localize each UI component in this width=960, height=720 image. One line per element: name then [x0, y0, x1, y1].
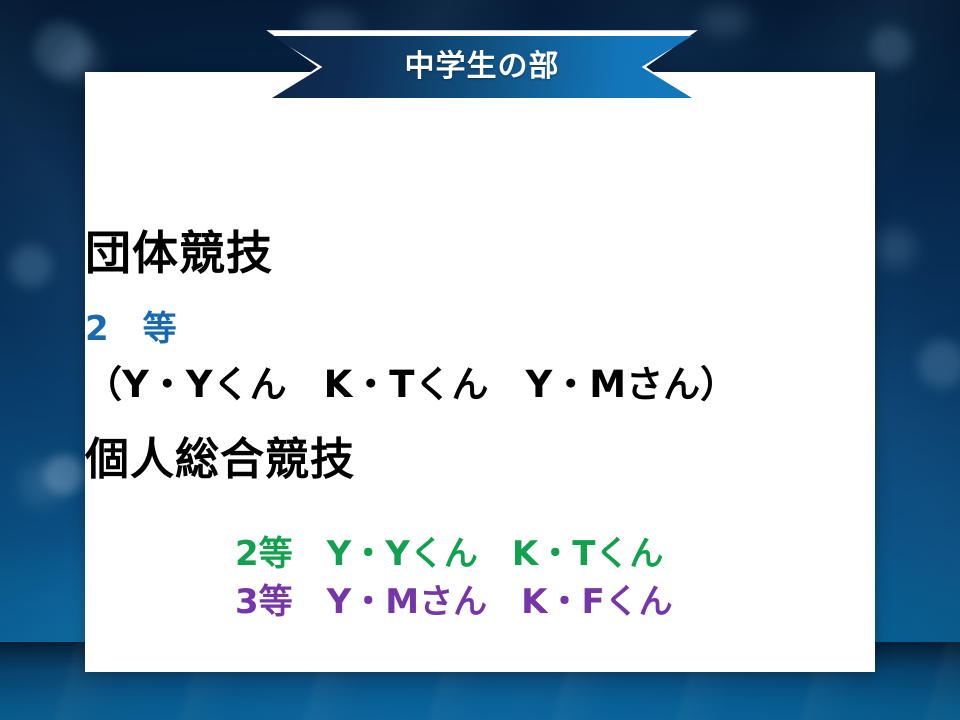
section-banner: 中学生の部	[272, 36, 692, 98]
individual-results-list: 2等 Y・Yくん K・Tくん 3等 Y・Mさん K・Fくん	[235, 530, 673, 627]
individual-result-row-2nd: 2等 Y・Yくん K・Tくん	[235, 530, 673, 578]
team-event-heading: 団体競技	[85, 230, 875, 276]
individual-event-heading: 個人総合競技	[85, 438, 875, 482]
individual-result-row-3rd: 3等 Y・Mさん K・Fくん	[235, 578, 673, 626]
slide: 団体競技 2 等 （Y・Yくん K・Tくん Y・Mさん） 個人総合競技 2等 Y…	[0, 0, 960, 720]
team-rank: 2 等	[85, 312, 875, 346]
team-members: （Y・Yくん K・Tくん Y・Mさん）	[85, 366, 875, 403]
banner-title: 中学生の部	[405, 52, 560, 82]
content-card: 団体競技 2 等 （Y・Yくん K・Tくん Y・Mさん） 個人総合競技 2等 Y…	[85, 72, 875, 672]
